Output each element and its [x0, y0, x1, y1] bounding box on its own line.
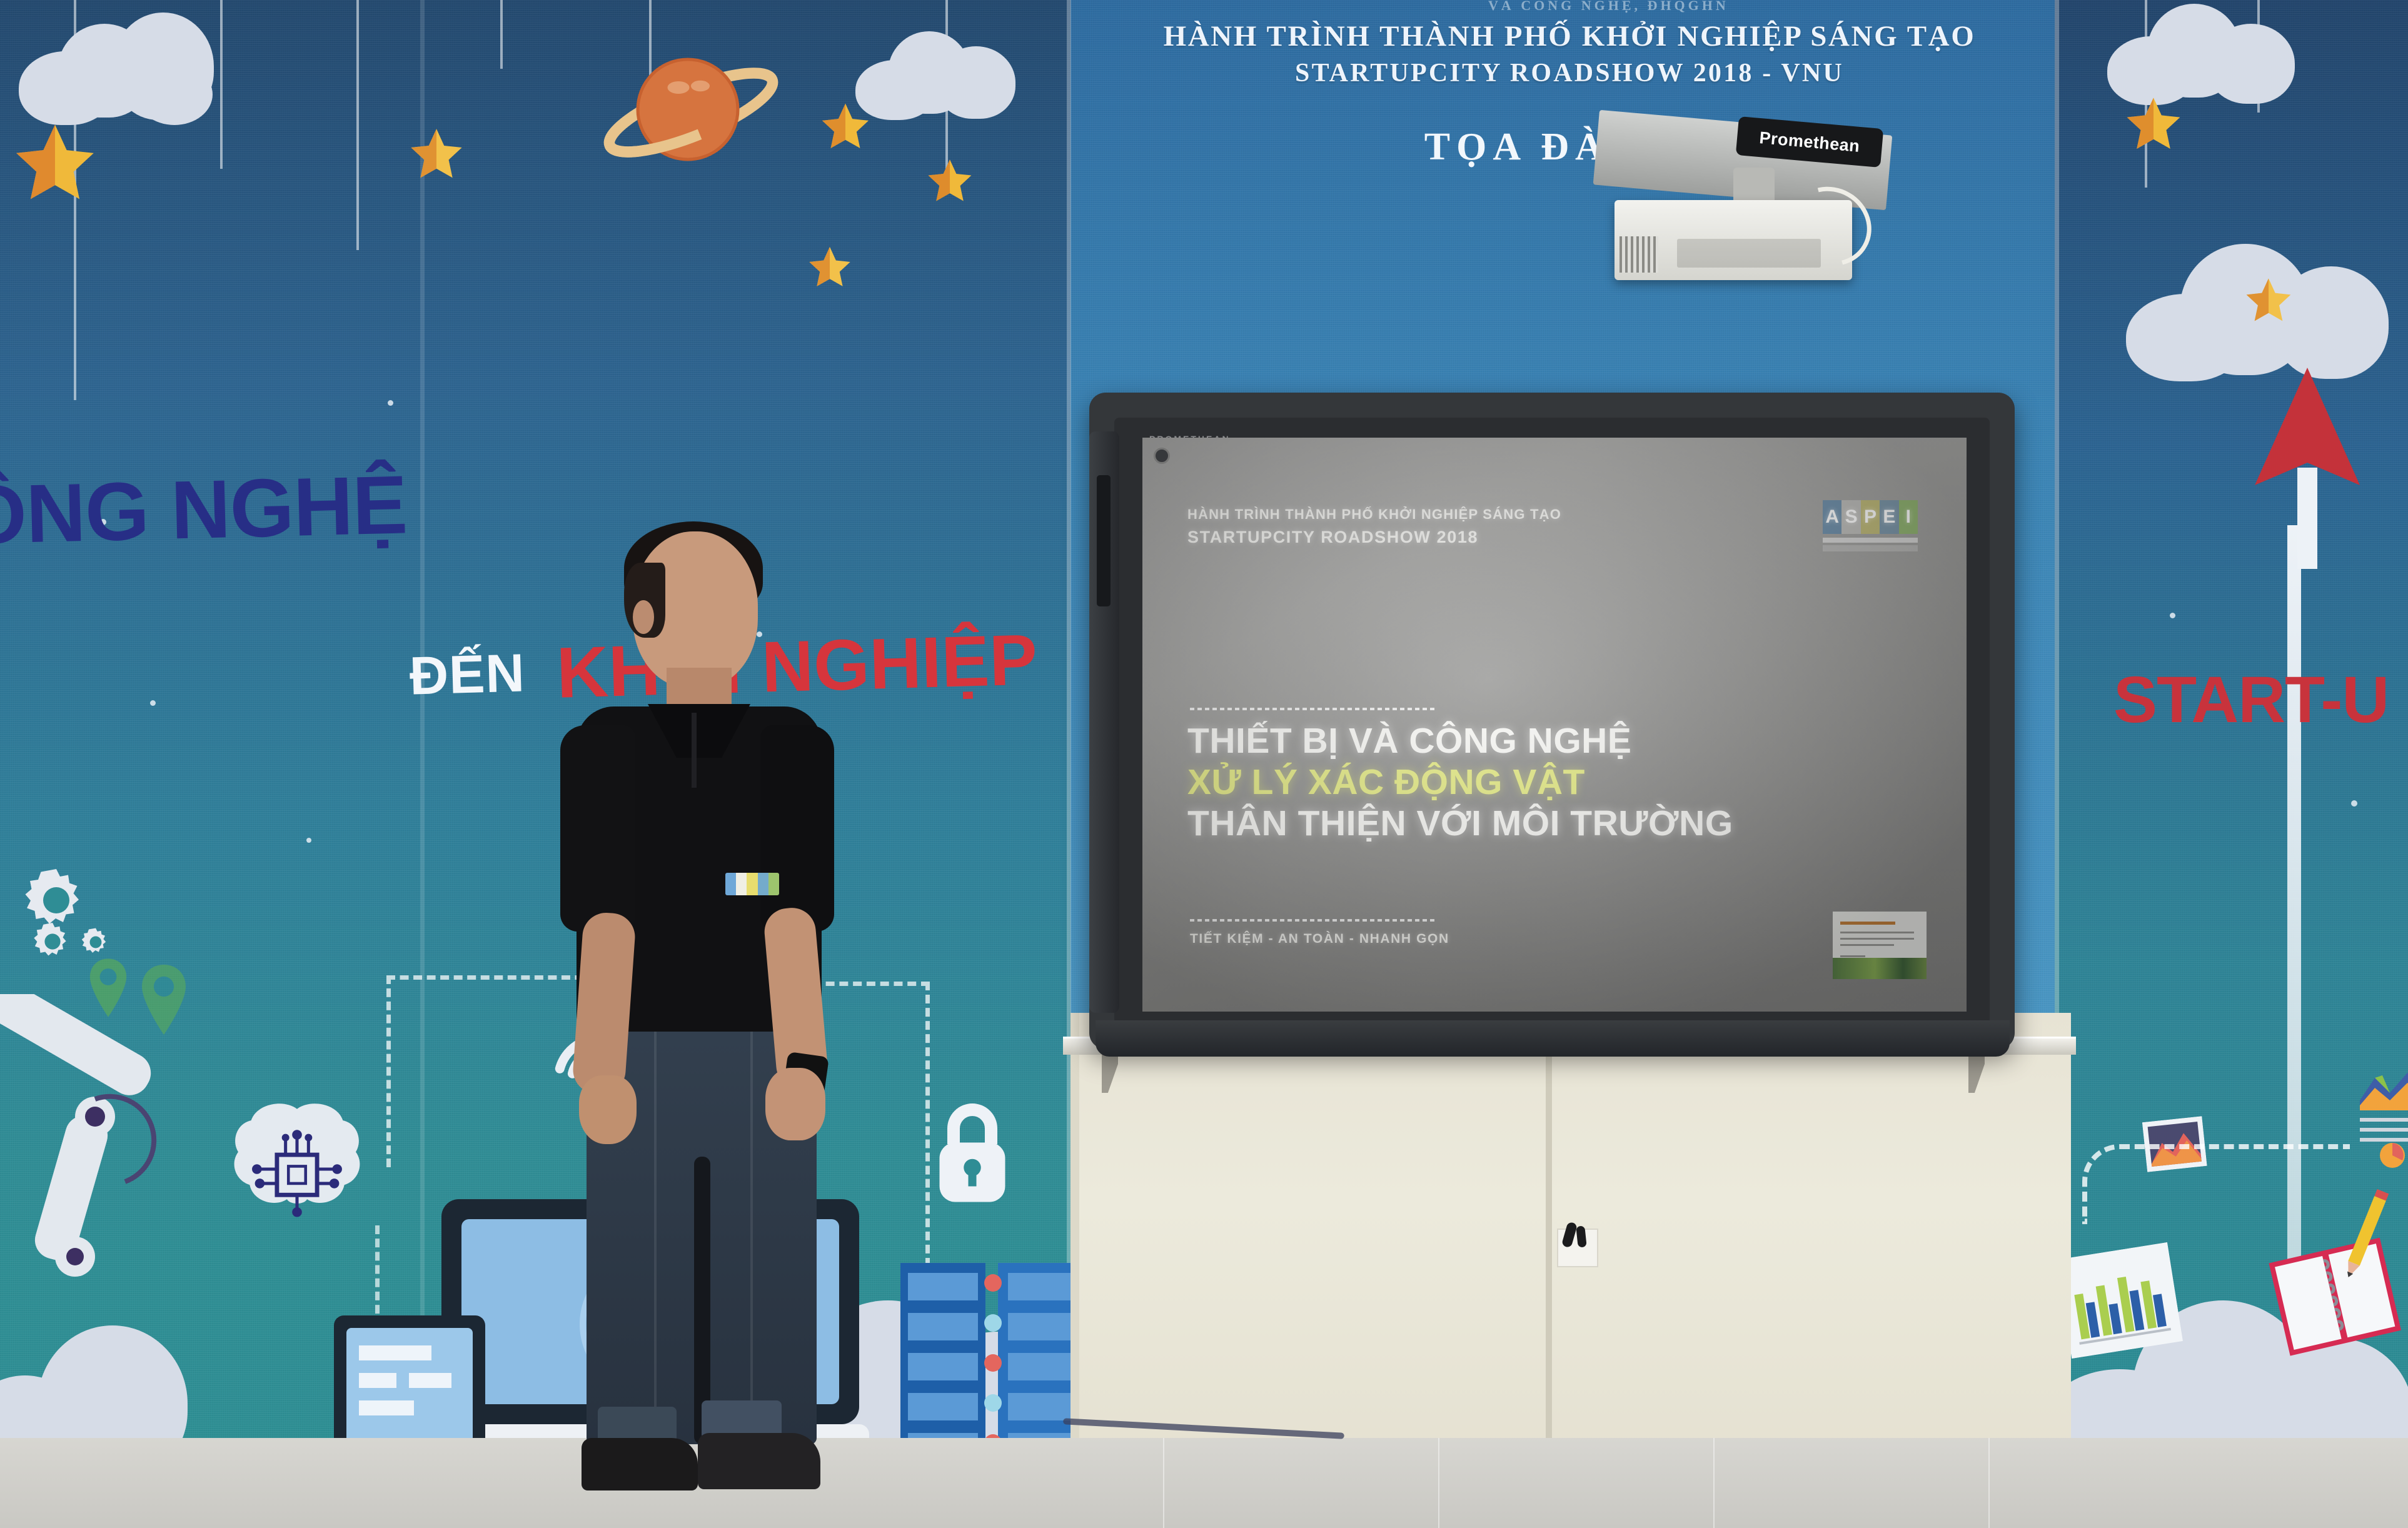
aspei-logo: A S P E I [1823, 500, 1918, 551]
aspei-subtext-bar [1823, 545, 1918, 551]
banner-title: HÀNH TRÌNH THÀNH PHỐ KHỞI NGHIỆP SÁNG TẠ… [1101, 18, 2038, 91]
banner-left-text: ÔNG NGHỆ [0, 457, 408, 562]
banner-top-micro-text: VÀ CÔNG NGHỆ, ĐHQGHN [1488, 0, 1863, 14]
slide-kicker-line2: STARTUPCITY ROADSHOW 2018 [1187, 525, 1561, 550]
whiteboard-sensor-dot [1154, 448, 1170, 464]
ear [633, 600, 654, 634]
slide-tagline: TIẾT KIỆM - AN TOÀN - NHANH GỌN [1190, 932, 1449, 947]
banner-title-line1: HÀNH TRÌNH THÀNH PHỐ KHỞI NGHIỆP SÁNG TẠ… [1101, 18, 2038, 56]
shoe-right [698, 1433, 820, 1489]
mixed-chart-icon [2357, 1063, 2408, 1172]
slide-headline-line3: THÂN THIỆN VỚI MÔI TRƯỜNG [1187, 803, 1750, 844]
hand-left [579, 1075, 637, 1144]
whiteboard-side-rail[interactable] [1089, 431, 1119, 1013]
whiteboard-pen-tray[interactable] [1096, 1020, 2010, 1057]
hanging-string [220, 0, 223, 169]
aspei-underbar [1823, 538, 1918, 543]
dashed-arc [2082, 1144, 2350, 1224]
banner-title-line2: STARTUPCITY ROADSHOW 2018 - VNU [1101, 56, 2038, 91]
aspei-letter-i: I [1899, 500, 1918, 534]
wall-socket[interactable] [1557, 1229, 1598, 1267]
slide-thumbnail-image [1833, 912, 1927, 979]
slide-rule-bottom [1190, 919, 1435, 922]
saturn-planet-icon [597, 34, 785, 194]
slide-headline: THIẾT BỊ VÀ CÔNG NGHỆ XỬ LÝ XÁC ĐỘNG VẬT… [1187, 720, 1750, 844]
power-plug [1576, 1225, 1586, 1247]
photo-scene: VÀ CÔNG NGHỆ, ĐHQGHN HÀNH TRÌNH THÀNH PH… [0, 0, 2408, 1528]
rocket-icon [2245, 363, 2370, 572]
ai-brain-chip-icon [225, 1100, 369, 1241]
sleeve-left [560, 725, 635, 932]
hanging-string [356, 0, 359, 250]
aspei-letter-a: A [1823, 500, 1841, 534]
banner-mid-text-white: ĐẾN [409, 642, 526, 707]
slide-rule-top [1190, 708, 1435, 710]
gear-icon [30, 919, 75, 967]
hand-right [765, 1068, 825, 1140]
aspei-shirt-badge [725, 873, 779, 895]
hanging-string [500, 0, 503, 69]
whiteboard-pen-slot[interactable] [1097, 475, 1111, 606]
aspei-letter-p: P [1861, 500, 1880, 534]
padlock-icon [932, 1100, 1013, 1210]
cloud-icon [855, 25, 1018, 119]
bar-chart-icon [2056, 1242, 2184, 1362]
slide-headline-line1: THIẾT BỊ VÀ CÔNG NGHỆ [1187, 720, 1750, 761]
shoe-left [582, 1438, 698, 1490]
slide-headline-line2: XỬ LÝ XÁC ĐỘNG VẬT [1187, 761, 1750, 803]
shirt-placket [692, 713, 697, 788]
banner-right-text: START-U [2113, 663, 2389, 738]
room-floor [0, 1438, 2408, 1528]
projector-brand-label: Promethean [1758, 128, 1860, 156]
cloud-icon [2107, 0, 2295, 106]
slide-kicker: HÀNH TRÌNH THÀNH PHỐ KHỞI NGHIỆP SÁNG TẠ… [1187, 504, 1561, 550]
sleeve-right [760, 725, 834, 932]
aspei-letter-s: S [1841, 500, 1860, 534]
slide-kicker-line1: HÀNH TRÌNH THÀNH PHỐ KHỞI NGHIỆP SÁNG TẠ… [1187, 504, 1561, 525]
presenter-person [538, 525, 925, 1500]
robot-arm-icon [0, 994, 175, 1285]
aspei-letter-e: E [1880, 500, 1898, 534]
projected-slide: HÀNH TRÌNH THÀNH PHỐ KHỞI NGHIỆP SÁNG TẠ… [1142, 438, 1967, 1012]
cloud-icon [19, 13, 213, 125]
projector-vent [1620, 236, 1658, 273]
